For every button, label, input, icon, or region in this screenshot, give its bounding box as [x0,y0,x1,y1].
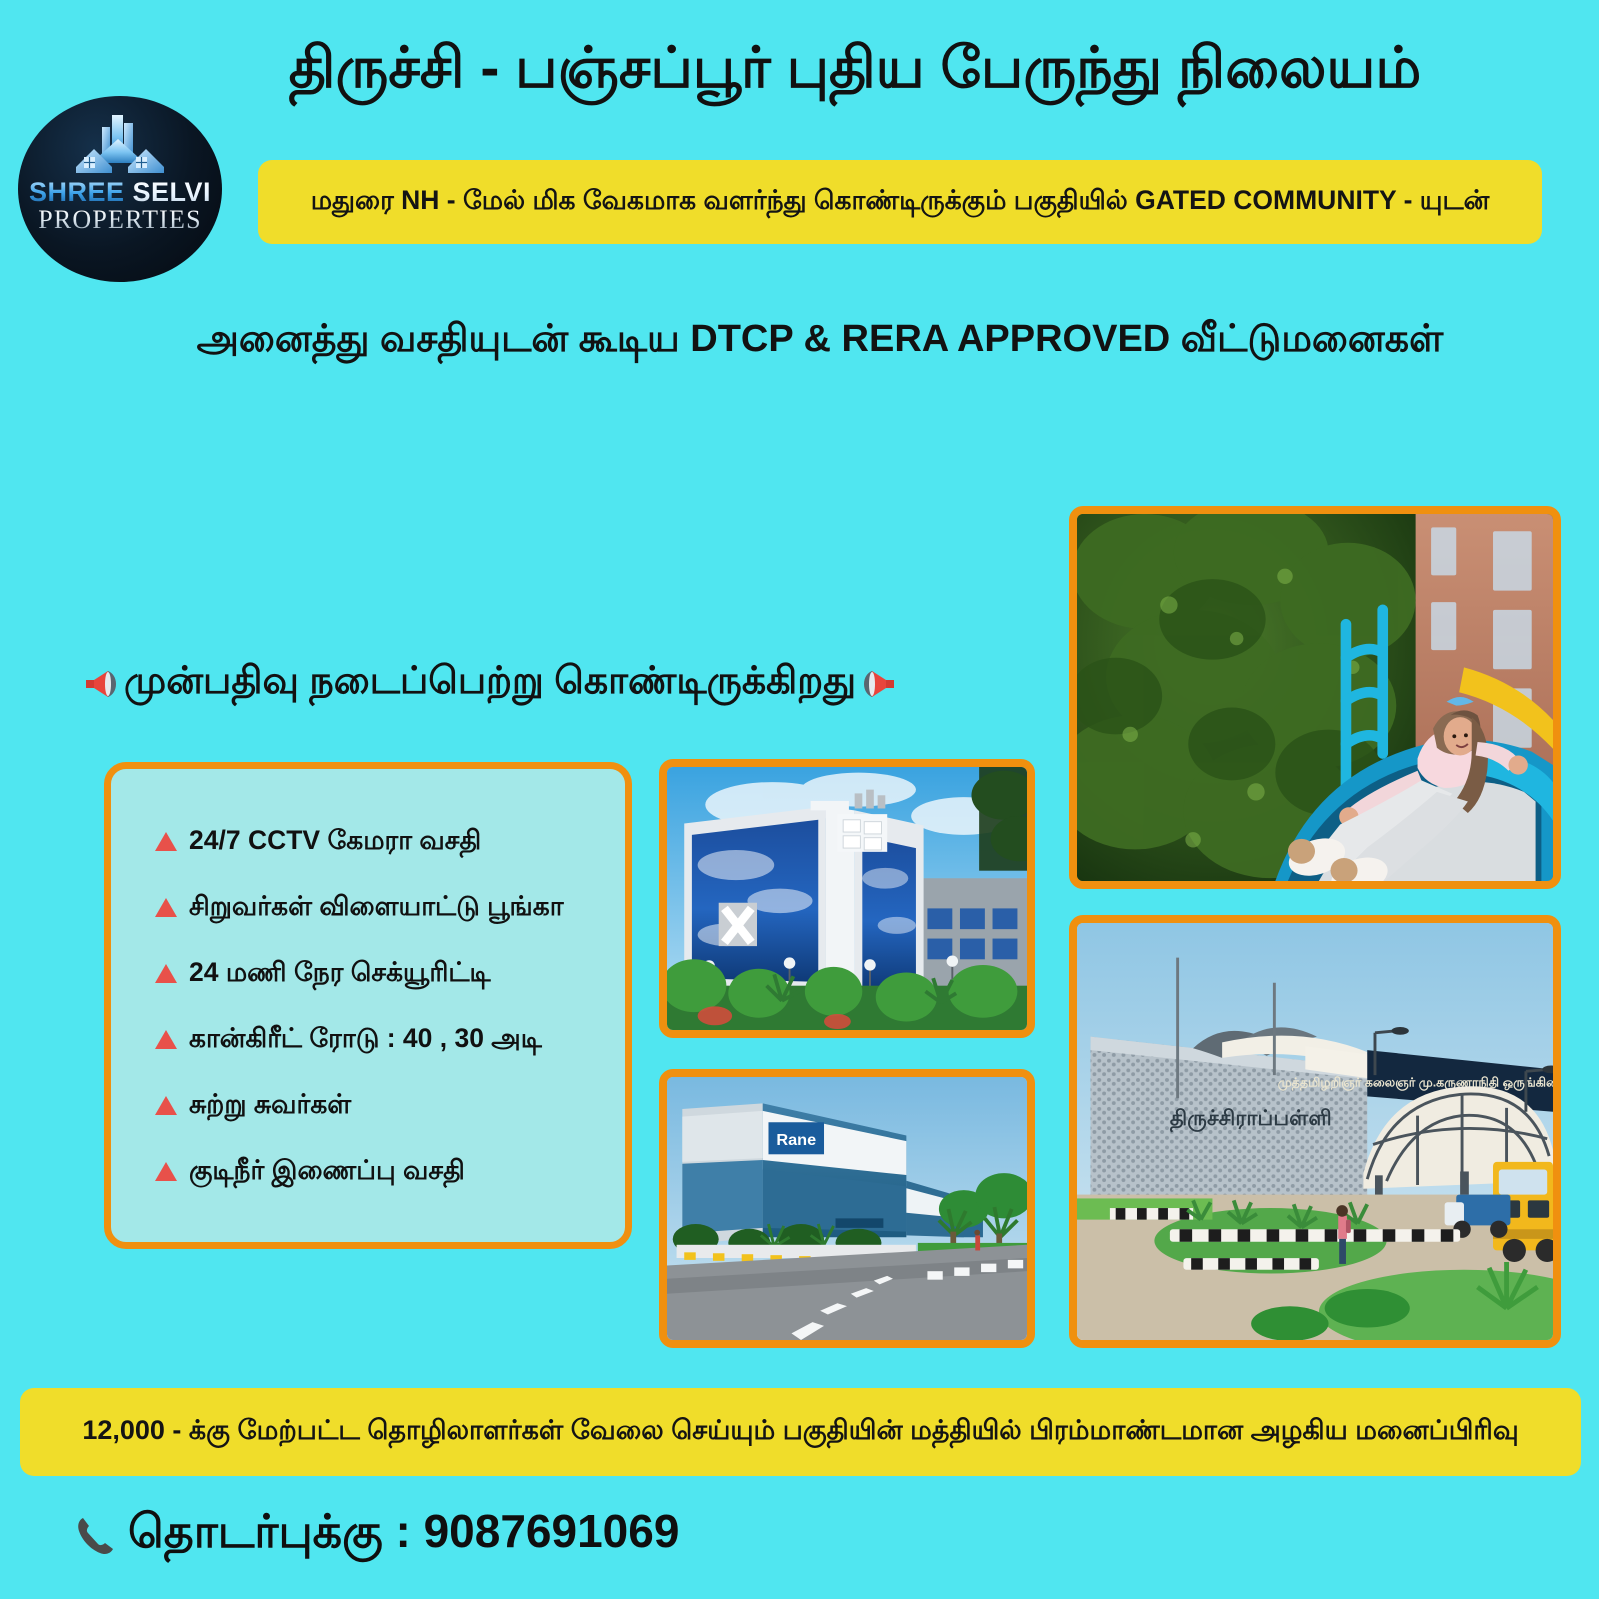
playground-photo-image [1077,514,1553,881]
list-item: குடிநீர் இணைப்பு வசதி [155,1139,625,1205]
contact-label: தொடர்புக்கு : 9087691069 [128,1504,679,1565]
triangle-bullet-icon [155,964,177,983]
list-item: சிறுவர்கள் விளையாட்டு பூங்கா [155,875,625,941]
feature-label: சிறுவர்கள் விளையாட்டு பூங்கா [189,891,564,925]
phone-icon [72,1512,118,1558]
booking-text: முன்பதிவு நடைப்பெற்று கொண்டிருக்கிறது [124,660,856,708]
contact-block[interactable]: தொடர்புக்கு : 9087691069 [72,1504,679,1565]
triangle-bullet-icon [155,1030,177,1049]
logo-primary-text: SHREE SELVI [29,179,211,206]
building-house-icon [60,113,180,177]
logo-word-selvi: SELVI [125,177,212,207]
list-item: சுற்று சுவர்கள் [155,1073,625,1139]
feature-label: கான்கிரீட் ரோடு : 40 , 30 அடி [189,1023,542,1057]
triangle-bullet-icon [155,898,177,917]
triangle-bullet-icon [155,832,177,851]
office-building-photo [659,759,1035,1038]
feature-label: சுற்று சுவர்கள் [189,1089,351,1123]
bus-stand-photo: திருச்சிராப்பள்ளி முத்தமிழறிஞர் கலைஞர் ம… [1069,915,1561,1348]
bottom-highlight-banner: 12,000 - க்கு மேற்பட்ட தொழிலாளர்கள் வேலை… [20,1388,1581,1476]
triangle-bullet-icon [155,1162,177,1181]
playground-photo [1069,506,1561,889]
triangle-bullet-icon [155,1096,177,1115]
booking-announcement: முன்பதிவு நடைப்பெற்று கொண்டிருக்கிறது [82,660,898,708]
feature-label: குடிநீர் இணைப்பு வசதி [189,1155,465,1189]
bus-stand-photo-image: திருச்சிராப்பள்ளி முத்தமிழறிஞர் கலைஞர் ம… [1077,923,1553,1340]
feature-label: 24/7 CCTV கேமரா வசதி [189,825,481,859]
megaphone-icon [82,664,122,704]
list-item: 24/7 CCTV கேமரா வசதி [155,809,625,875]
feature-label: 24 மணி நேர செக்யூரிட்டி [189,957,491,991]
list-item: 24 மணி நேர செக்யூரிட்டி [155,941,625,1007]
megaphone-icon [858,664,898,704]
factory-photo-image: Rane [667,1077,1027,1340]
office-building-photo-image [667,767,1027,1030]
factory-photo: Rane [659,1069,1035,1348]
svg-text:Rane: Rane [776,1131,816,1149]
logo-subtitle: PROPERTIES [38,207,202,233]
features-list: 24/7 CCTV கேமரா வசதி சிறுவர்கள் விளையாட்… [104,762,632,1249]
page-title: திருச்சி - பஞ்சப்பூர் புதிய பேருந்து நில… [190,38,1520,100]
top-highlight-banner: மதுரை NH - மேல் மிக வேகமாக வளர்ந்து கொண்… [258,160,1542,244]
poster-canvas: SHREE SELVI PROPERTIES திருச்சி - பஞ்சப்… [0,0,1599,1599]
brand-logo: SHREE SELVI PROPERTIES [18,96,222,282]
logo-word-shree: SHREE [29,177,125,207]
svg-text:முத்தமிழறிஞர் கலைஞர் மு.கருணாந: முத்தமிழறிஞர் கலைஞர் மு.கருணாநிதி ஒருங்க… [1278,1076,1553,1091]
list-item: கான்கிரீட் ரோடு : 40 , 30 அடி [155,1007,625,1073]
bottom-banner-text: 12,000 - க்கு மேற்பட்ட தொழிலாளர்கள் வேலை… [82,1415,1518,1450]
approval-statement: அனைத்து வசதியுடன் கூடிய DTCP & RERA APPR… [120,318,1520,366]
svg-text:திருச்சிராப்பள்ளி: திருச்சிராப்பள்ளி [1170,1107,1332,1133]
top-banner-text: மதுரை NH - மேல் மிக வேகமாக வளர்ந்து கொண்… [311,185,1490,219]
